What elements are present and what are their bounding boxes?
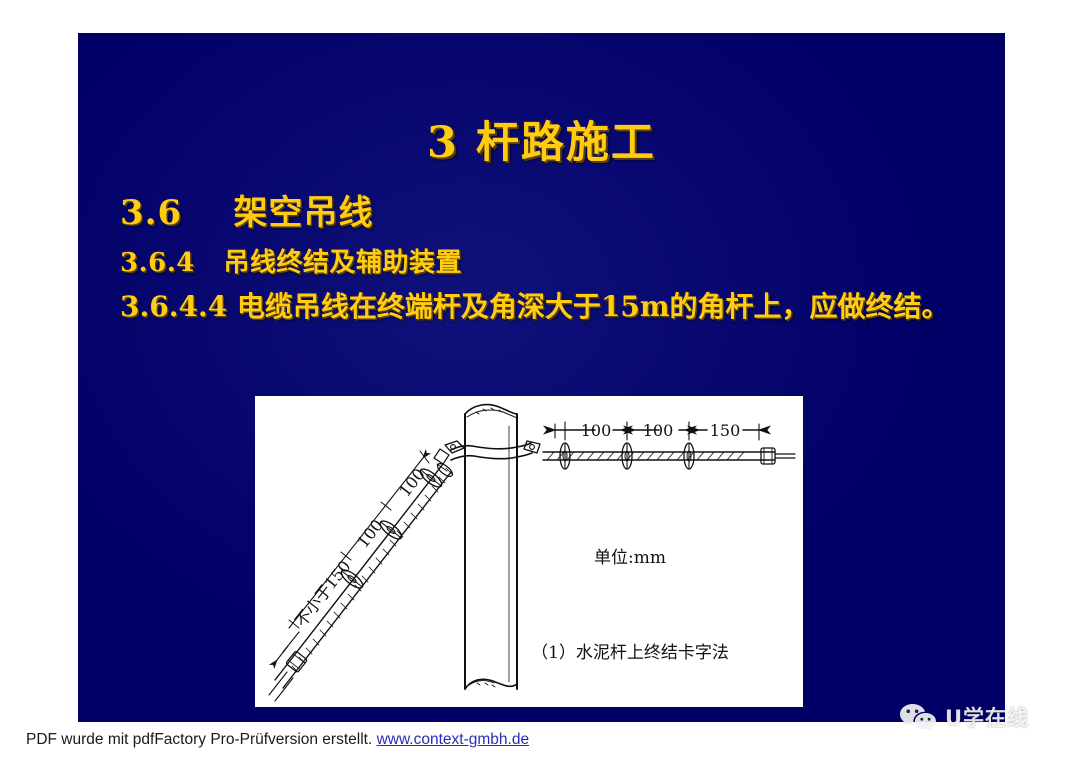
figure-caption: （1）水泥杆上终结卡字法 [531,643,729,663]
footer-text: PDF wurde mit pdfFactory Pro-Prüfversion… [26,731,377,748]
dimension-label-150: 150 [710,421,741,440]
termination-eye [434,449,455,479]
dimension-label-100-b: 100 [643,421,674,440]
paragraph-3-6-4-4: 3.6.4.4 电缆吊线在终端杆及角深大于15m的角杆上，应做终结。 [120,289,965,326]
heading-subsection-3-6-4: 3.6.4 吊线终结及辅助装置 [120,242,965,279]
pole-termination-diagram: 100 100 150 不小于150 100 100 单位:mm （1）水泥杆上… [255,396,803,707]
presentation-slide: 3 杆路施工 3.6 架空吊线 3.6.4 吊线终结及辅助装置 3.6.4.4 … [78,33,1005,722]
figure-container: 100 100 150 不小于150 100 100 单位:mm （1）水泥杆上… [255,396,803,707]
diagonal-label-100-b: 100 [395,465,429,501]
page-title: 3 杆路施工 [78,108,1005,170]
pole-band-clamp [445,441,540,460]
watermark: U学在线 [898,702,1029,732]
horizontal-strand [543,443,795,469]
pdf-footer-notice: PDF wurde mit pdfFactory Pro-Prüfversion… [26,731,529,749]
strand-clip [560,443,570,469]
watermark-label: U学在线 [945,702,1029,732]
strand-clip [684,443,694,469]
concrete-pole [465,405,517,689]
slide-body-text: 3.6 架空吊线 3.6.4 吊线终结及辅助装置 3.6.4.4 电缆吊线在终端… [120,185,965,326]
diagonal-strand [269,451,452,701]
heading-section-3-6: 3.6 架空吊线 [120,185,965,234]
footer-link[interactable]: www.context-gmbh.de [377,731,530,748]
dimension-label-100-a: 100 [581,421,612,440]
unit-note: 单位:mm [594,548,666,568]
wechat-icon [898,702,938,732]
